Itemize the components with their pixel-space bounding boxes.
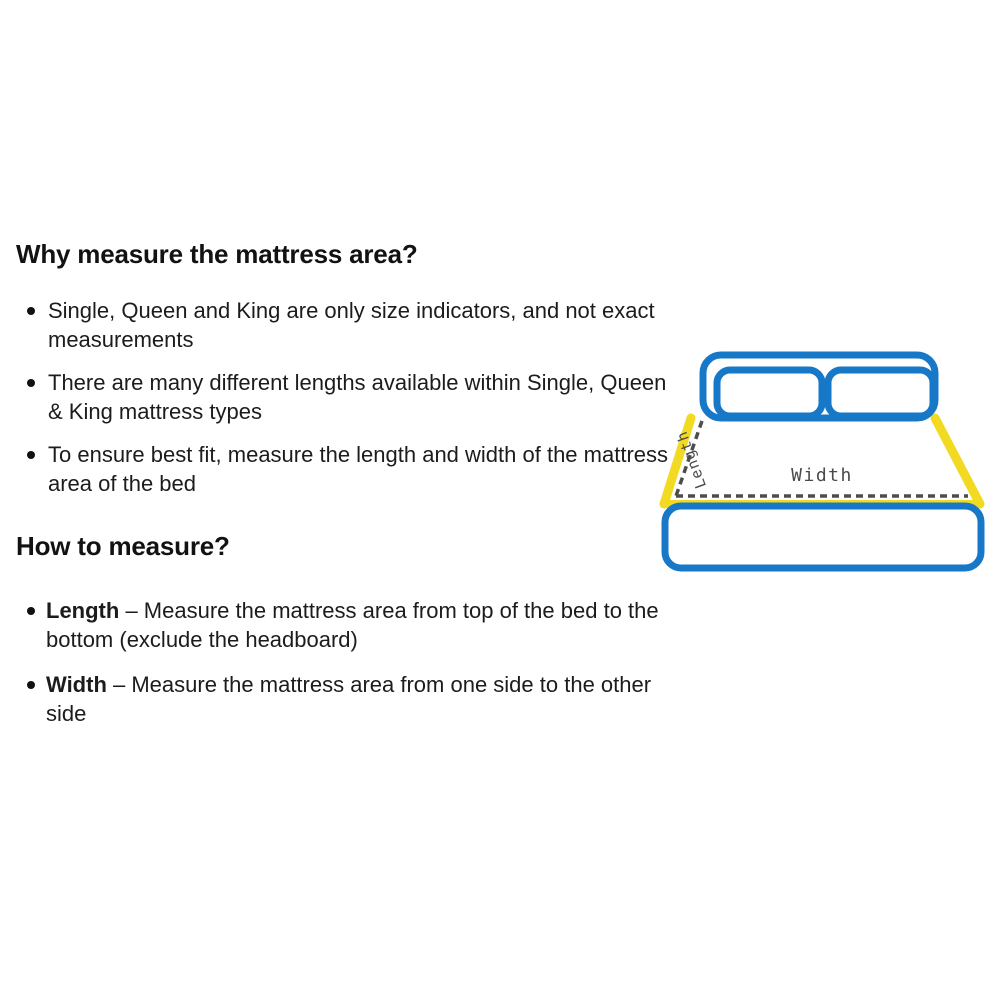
bed-measurement-diagram: Width Length <box>650 338 995 586</box>
list-item-text: To ensure best fit, measure the length a… <box>48 442 668 496</box>
list-item: Length – Measure the mattress area from … <box>16 596 676 654</box>
list-item-text: There are many different lengths availab… <box>48 370 666 424</box>
list-item: To ensure best fit, measure the length a… <box>16 440 676 498</box>
bed-base <box>665 506 981 568</box>
list-item: Width – Measure the mattress area from o… <box>16 670 676 728</box>
why-measure-heading: Why measure the mattress area? <box>16 240 676 270</box>
pillow-right <box>828 370 933 416</box>
list-item-text: Single, Queen and King are only size ind… <box>48 298 655 352</box>
infographic-page: Why measure the mattress area? Single, Q… <box>0 0 1000 1000</box>
list-item-lead: Width <box>46 672 107 697</box>
text-column: Why measure the mattress area? Single, Q… <box>16 240 676 744</box>
how-to-measure-heading: How to measure? <box>16 532 676 562</box>
list-item: Single, Queen and King are only size ind… <box>16 296 676 354</box>
bullet-dot-icon <box>27 379 35 387</box>
mattress-area-shape <box>664 418 980 504</box>
bullet-dot-icon <box>27 681 35 689</box>
list-item: There are many different lengths availab… <box>16 368 676 426</box>
width-label: Width <box>791 465 853 486</box>
bullet-dot-icon <box>27 451 35 459</box>
how-to-measure-bullet-list: Length – Measure the mattress area from … <box>16 596 676 728</box>
bullet-dot-icon <box>27 607 35 615</box>
list-item-text: – Measure the mattress area from one sid… <box>46 672 651 726</box>
why-measure-bullet-list: Single, Queen and King are only size ind… <box>16 296 676 498</box>
list-item-lead: Length <box>46 598 119 623</box>
pillow-left <box>717 370 822 416</box>
bullet-dot-icon <box>27 307 35 315</box>
list-item-text: – Measure the mattress area from top of … <box>46 598 659 652</box>
